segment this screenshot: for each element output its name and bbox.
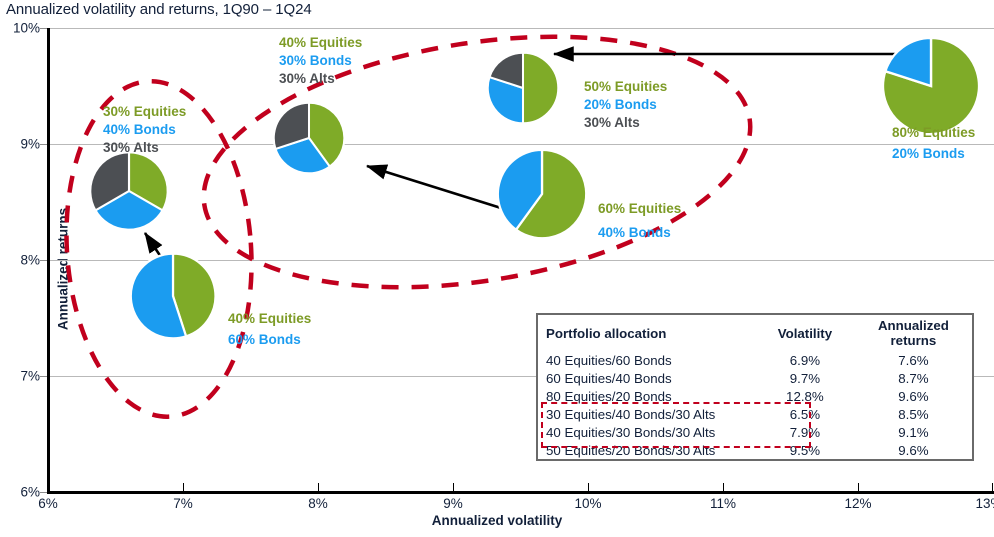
cell-volatility: 6.9% xyxy=(755,351,855,369)
callout-50-20-30: 50% Equities 20% Bonds 30% Alts xyxy=(584,78,667,132)
table-row: 60 Equities/40 Bonds 9.7% 8.7% xyxy=(538,369,972,387)
x-tick-label-8: 8% xyxy=(308,496,328,511)
table-header-row: Portfolio allocation Volatility Annualiz… xyxy=(538,315,972,351)
cell-volatility: 12.8% xyxy=(755,387,855,405)
x-tick-label-6: 6% xyxy=(38,496,58,511)
portfolio-allocation-table: Portfolio allocation Volatility Annualiz… xyxy=(536,313,974,461)
cell-returns: 9.6% xyxy=(855,441,972,459)
cell-volatility: 9.7% xyxy=(755,369,855,387)
pie-50-equities-20-bonds-30-alts xyxy=(481,46,565,130)
y-tick-label-9: 9% xyxy=(20,137,40,152)
y-tick-label-7: 7% xyxy=(20,369,40,384)
x-tick-label-13: 13% xyxy=(975,496,994,511)
x-tick-label-11: 11% xyxy=(710,496,736,511)
cell-allocation: 40 Equities/30 Bonds/30 Alts xyxy=(538,423,755,441)
callout-line-bonds: 30% Bonds xyxy=(279,52,362,70)
callout-line-equities: 30% Equities xyxy=(103,103,186,121)
callout-line-bonds: 40% Bonds xyxy=(103,121,186,139)
callout-40-30-30: 40% Equities 30% Bonds 30% Alts xyxy=(279,34,362,88)
table-row: 30 Equities/40 Bonds/30 Alts 6.5% 8.5% xyxy=(538,405,972,423)
x-tick-label-12: 12% xyxy=(844,496,871,511)
cell-returns: 9.1% xyxy=(855,423,972,441)
callout-line-alts: 30% Alts xyxy=(584,114,667,132)
cell-returns: 8.7% xyxy=(855,369,972,387)
page-title: Annualized volatility and returns, 1Q90 … xyxy=(6,1,312,18)
cell-allocation: 60 Equities/40 Bonds xyxy=(538,369,755,387)
cell-volatility: 6.5% xyxy=(755,405,855,423)
cell-allocation: 40 Equities/60 Bonds xyxy=(538,351,755,369)
callout-line-equities: 50% Equities xyxy=(584,78,667,96)
x-axis-line xyxy=(47,491,994,494)
callout-40-60: 40% Equities 60% Bonds xyxy=(228,309,311,351)
gridline-9 xyxy=(50,144,994,145)
cell-allocation: 80 Equities/20 Bonds xyxy=(538,387,755,405)
y-tick-label-6: 6% xyxy=(20,485,40,500)
table-row: 40 Equities/60 Bonds 6.9% 7.6% xyxy=(538,351,972,369)
x-axis-title: Annualized volatility xyxy=(0,513,994,528)
pie-30-equities-40-bonds-30-alts xyxy=(85,147,173,235)
table-row: 50 Equities/20 Bonds/30 Alts 9.5% 9.6% xyxy=(538,441,972,459)
pie-60-equities-40-bonds xyxy=(495,147,589,241)
cell-allocation: 50 Equities/20 Bonds/30 Alts xyxy=(538,441,755,459)
callout-line-bonds: 20% Bonds xyxy=(584,96,667,114)
callout-line-bonds: 20% Bonds xyxy=(892,144,975,165)
pie-40-equities-30-bonds-30-alts xyxy=(267,96,351,180)
col-header-returns: Annualized returns xyxy=(855,315,972,351)
callout-line-alts: 30% Alts xyxy=(279,70,362,88)
x-tick-label-9: 9% xyxy=(443,496,463,511)
cell-volatility: 7.9% xyxy=(755,423,855,441)
pie-80-equities-20-bonds xyxy=(882,37,980,135)
table-row: 80 Equities/20 Bonds 12.8% 9.6% xyxy=(538,387,972,405)
callout-line-equities: 40% Equities xyxy=(279,34,362,52)
chart-root: Annualized volatility and returns, 1Q90 … xyxy=(0,0,994,537)
cell-returns: 8.5% xyxy=(855,405,972,423)
y-axis-line xyxy=(47,28,50,494)
callout-line-bonds: 40% Bonds xyxy=(598,221,681,245)
callout-line-equities: 60% Equities xyxy=(598,197,681,221)
callout-line-bonds: 60% Bonds xyxy=(228,330,311,351)
cell-returns: 9.6% xyxy=(855,387,972,405)
callout-30-40-30: 30% Equities 40% Bonds 30% Alts xyxy=(103,103,186,157)
callout-line-equities: 80% Equities xyxy=(892,123,975,144)
callout-line-alts: 30% Alts xyxy=(103,139,186,157)
slice-equities xyxy=(523,53,558,124)
callout-60-40: 60% Equities 40% Bonds xyxy=(598,197,681,244)
col-header-volatility: Volatility xyxy=(755,315,855,351)
x-tick-label-7: 7% xyxy=(173,496,193,511)
callout-line-equities: 40% Equities xyxy=(228,309,311,330)
table-row: 40 Equities/30 Bonds/30 Alts 7.9% 9.1% xyxy=(538,423,972,441)
col-header-allocation: Portfolio allocation xyxy=(538,315,755,351)
callout-80-20: 80% Equities 20% Bonds xyxy=(892,123,975,165)
x-tick-label-10: 10% xyxy=(574,496,601,511)
gridline-10 xyxy=(50,28,994,29)
y-tick-label-8: 8% xyxy=(20,253,40,268)
cell-volatility: 9.5% xyxy=(755,441,855,459)
cell-returns: 7.6% xyxy=(855,351,972,369)
y-tick-label-10: 10% xyxy=(13,21,40,36)
cell-allocation: 30 Equities/40 Bonds/30 Alts xyxy=(538,405,755,423)
pie-40-equities-60-bonds xyxy=(127,250,219,342)
